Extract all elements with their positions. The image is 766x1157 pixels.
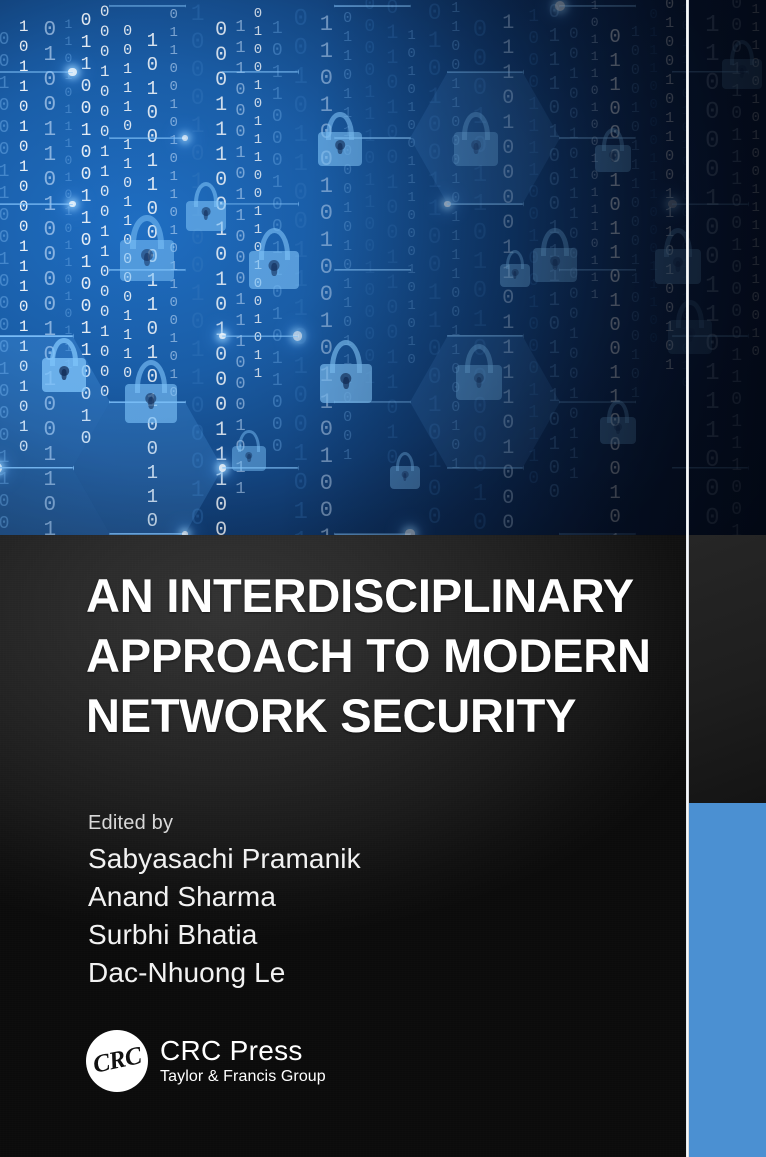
padlock-keyslot (148, 397, 154, 410)
padlock-icon (186, 182, 226, 231)
book-title: AN INTERDISCIPLINARY APPROACH TO MODERN … (86, 566, 666, 746)
padlock-keyslot (476, 377, 481, 388)
padlock-layer (0, 0, 766, 535)
contributors-block: Edited by Sabyasachi Pramanik Anand Shar… (88, 808, 361, 992)
crc-roundel-icon: CRC (86, 1030, 148, 1092)
padlock-keyslot (247, 454, 251, 462)
spine-dark-block (689, 535, 766, 803)
padlock-keyslot (474, 143, 479, 154)
spine-divider-line (686, 0, 689, 1157)
padlock-icon (454, 112, 498, 166)
title-line-3: NETWORK SECURITY (86, 686, 666, 746)
crc-mark-text: CRC (90, 1042, 143, 1079)
padlock-keyslot (343, 377, 349, 390)
padlock-icon (600, 400, 636, 444)
publisher-imprint: Taylor & Francis Group (160, 1067, 326, 1087)
spine-accent-block (689, 803, 766, 1157)
editor-name: Surbhi Bhatia (88, 916, 361, 954)
padlock-keyslot (675, 261, 680, 272)
padlock-icon (42, 338, 86, 392)
padlock-icon (595, 128, 631, 172)
publisher-logo: CRC CRC Press Taylor & Francis Group (86, 1030, 326, 1092)
padlock-icon (232, 430, 266, 471)
title-line-2: APPROACH TO MODERN (86, 626, 666, 686)
padlock-keyslot (553, 259, 558, 270)
padlock-icon (500, 250, 530, 287)
cover-artwork: 0010001100100001000110011011010100011101… (0, 0, 766, 535)
padlock-icon (533, 228, 577, 282)
padlock-icon (320, 340, 372, 403)
padlock-keyslot (144, 253, 150, 266)
padlock-icon (249, 228, 299, 289)
padlock-keyslot (62, 369, 67, 380)
padlock-icon (120, 215, 174, 281)
publisher-text: CRC Press Taylor & Francis Group (160, 1035, 326, 1087)
publisher-name: CRC Press (160, 1035, 326, 1067)
padlock-icon (390, 452, 420, 489)
padlock-keyslot (616, 425, 620, 434)
editor-name: Sabyasachi Pramanik (88, 840, 361, 878)
padlock-keyslot (611, 153, 615, 162)
padlock-keyslot (271, 263, 277, 275)
padlock-icon (655, 228, 701, 284)
padlock-icon (125, 360, 177, 423)
edited-by-label: Edited by (88, 808, 361, 838)
padlock-icon (456, 344, 502, 400)
editor-name: Dac-Nhuong Le (88, 954, 361, 992)
book-cover: 0010001100100001000110011011010100011101… (0, 0, 766, 1157)
title-line-1: AN INTERDISCIPLINARY (86, 566, 666, 626)
padlock-icon (722, 40, 762, 89)
editor-name: Anand Sharma (88, 878, 361, 916)
padlock-icon (318, 112, 362, 166)
padlock-icon (668, 300, 712, 354)
padlock-keyslot (338, 143, 343, 154)
